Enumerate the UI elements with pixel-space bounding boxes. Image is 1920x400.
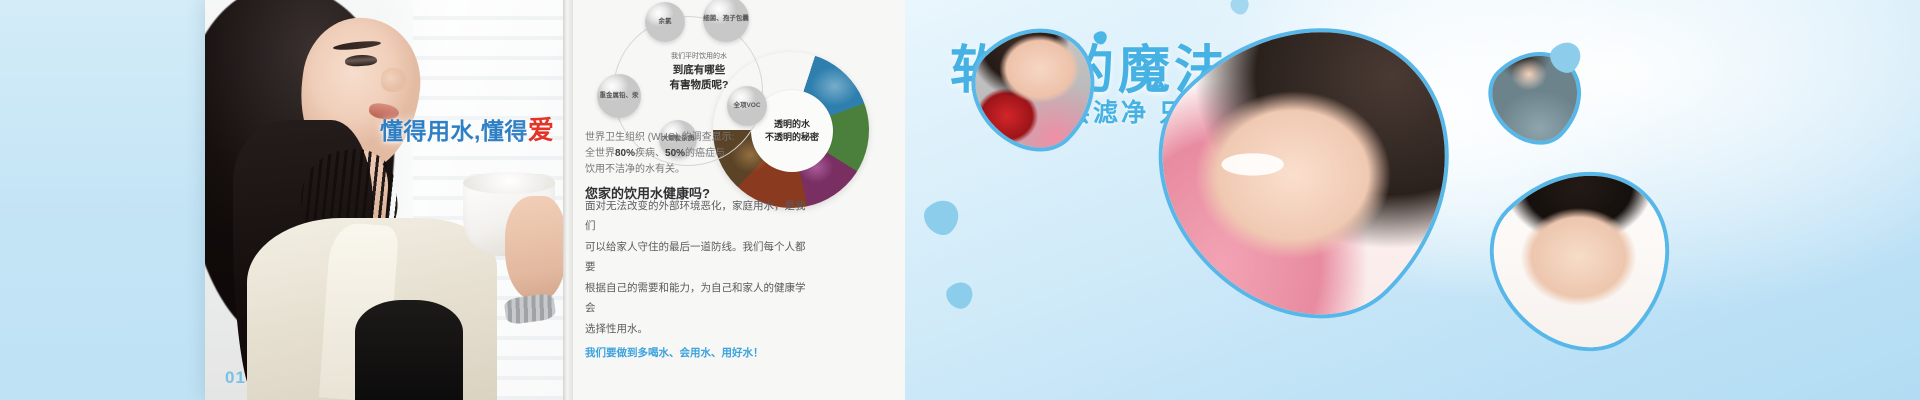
body-line-4: 选择性用水。 bbox=[585, 319, 807, 339]
screenshot-stage: 懂得用水,懂得爱 01 透明的水 不透明的秘密 余氯 细菌、 bbox=[0, 0, 1920, 400]
photo-hand bbox=[505, 196, 563, 300]
body-line-2: 可以给家人守住的最后一道防线。我们每个人都要 bbox=[585, 237, 807, 278]
center-question-line3: 有害物质呢? bbox=[647, 78, 751, 94]
page-number: 01 bbox=[225, 368, 246, 388]
photo-inner-top bbox=[355, 300, 463, 400]
decorative-droplet-2 bbox=[942, 277, 979, 314]
magazine-spread: 懂得用水,懂得爱 01 透明的水 不透明的秘密 余氯 细菌、 bbox=[205, 0, 905, 400]
center-question-line1: 我们平时饮用的水 bbox=[647, 52, 751, 63]
photo-cup-rim bbox=[463, 172, 555, 194]
bubble-heavy-metals: 重金属铅、汞 bbox=[597, 74, 641, 118]
decorative-droplet-4 bbox=[1227, 0, 1252, 18]
bubble-label: 细菌、孢子包囊 bbox=[703, 15, 749, 23]
spread-right-page: 透明的水 不透明的秘密 余氯 细菌、孢子包囊 重金属铅、汞 大颗粒杂质 全项V bbox=[563, 0, 905, 400]
who-statistics-block: 世界卫生组织 (WHO) 的调查显示: 全世界80%疾病、50%的癌症与 饮用不… bbox=[585, 130, 785, 204]
photo-nose bbox=[381, 68, 407, 92]
drop-girl-apple-photo bbox=[950, 1, 1123, 174]
center-question-line2: 到底有哪些 bbox=[647, 63, 751, 79]
body-line-1: 面对无法改变的外部环境恶化，家庭用水，是我们 bbox=[585, 196, 807, 237]
left-page-tagline: 懂得用水,懂得爱 bbox=[380, 110, 554, 147]
who-stat-50: 50% bbox=[665, 148, 685, 159]
body-highlight-line: 我们要做到多喝水、会用水、用好水！ bbox=[585, 343, 807, 363]
bubble-label: 重金属铅、汞 bbox=[600, 92, 639, 100]
woman-photo bbox=[205, 0, 563, 400]
left-background-gradient bbox=[0, 0, 205, 400]
bubble-bacteria-cysts: 细菌、孢子包囊 bbox=[703, 0, 749, 42]
who-stat-line: 全世界80%疾病、50%的癌症与 bbox=[585, 146, 785, 162]
who-stat-prefix: 全世界 bbox=[585, 148, 615, 159]
decorative-droplet-1 bbox=[918, 193, 966, 241]
who-stat-suffix: 的癌症与 bbox=[685, 148, 725, 159]
body-copy-block: 面对无法改变的外部环境恶化，家庭用水，是我们 可以给家人守住的最后一道防线。我们… bbox=[585, 196, 807, 364]
who-stat-80: 80% bbox=[615, 148, 635, 159]
who-intro-line: 世界卫生组织 (WHO) 的调查显示: bbox=[585, 130, 785, 146]
tagline-blue-text: 懂得用水,懂得 bbox=[380, 118, 528, 144]
spread-left-page: 懂得用水,懂得爱 01 bbox=[205, 0, 563, 400]
promo-panel: 软水的魔法 层层滤净 只留下爱 bbox=[905, 0, 1920, 400]
who-stat-line3: 饮用不洁净的水有关。 bbox=[585, 162, 785, 178]
bubble-residual-chlorine: 余氯 bbox=[645, 2, 685, 42]
body-line-3: 根据自己的需要和能力，为自己和家人的健康学会 bbox=[585, 278, 807, 319]
infographic-center-question: 我们平时饮用的水 到底有哪些 有害物质呢? bbox=[647, 52, 751, 128]
who-stat-mid: 疾病、 bbox=[635, 148, 665, 159]
drop-girl-apple bbox=[950, 1, 1123, 174]
tagline-red-char: 爱 bbox=[528, 115, 555, 145]
bubble-label: 余氯 bbox=[659, 18, 672, 26]
